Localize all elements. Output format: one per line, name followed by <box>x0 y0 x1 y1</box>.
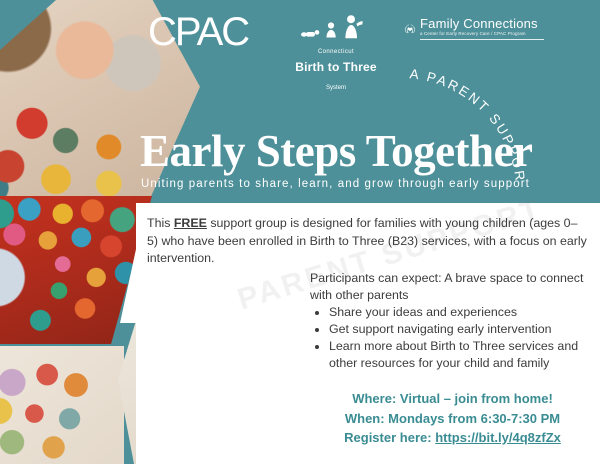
family-connections-name: Family Connections <box>420 17 544 31</box>
photo-pastel-blocks <box>0 346 124 464</box>
list-item: Share your ideas and experiences <box>329 304 595 321</box>
expectations-block: Participants can expect: A brave space t… <box>310 270 595 372</box>
expectations-heading: Participants can expect: A brave space t… <box>310 270 595 304</box>
expectations-list: Share your ideas and experiences Get sup… <box>310 304 595 372</box>
intro-before: This <box>147 216 174 230</box>
register-label: Register here: <box>344 430 435 445</box>
register-link[interactable]: https://bit.ly/4q8zfZx <box>435 430 561 445</box>
detail-when: When: Mondays from 6:30-7:30 PM <box>310 409 595 429</box>
intro-emphasis: FREE <box>174 216 207 230</box>
photo-fill <box>0 346 124 464</box>
b23-line2: Birth to Three <box>295 60 376 74</box>
event-details: Where: Virtual – join from home! When: M… <box>310 389 595 448</box>
logo-rule <box>420 39 544 40</box>
birth-to-three-logo: Connecticut Birth to Three System <box>290 14 382 66</box>
flyer-canvas: CPAC Connecticut Birth to Three System <box>0 0 600 464</box>
list-item: Get support navigating early interventio… <box>329 321 595 338</box>
hands-heart-icon <box>404 16 416 42</box>
page-title: Early Steps Together <box>140 126 580 176</box>
cpac-logo: CPAC <box>148 12 248 52</box>
b23-line1: Connecticut <box>318 49 354 55</box>
list-item: Learn more about Birth to Three services… <box>329 338 595 372</box>
b23-line3: System <box>326 85 346 91</box>
intro-paragraph: This FREE support group is designed for … <box>147 215 587 268</box>
page-tagline: Uniting parents to share, learn, and gro… <box>141 178 581 190</box>
detail-where: Where: Virtual – join from home! <box>310 389 595 409</box>
intro-after: support group is designed for families w… <box>147 216 587 265</box>
family-connections-subtitle: a Center for Early Recovery Care / CPAC … <box>420 31 544 37</box>
detail-register: Register here: https://bit.ly/4q8zfZx <box>310 428 595 448</box>
children-silhouette-icon <box>290 14 382 40</box>
